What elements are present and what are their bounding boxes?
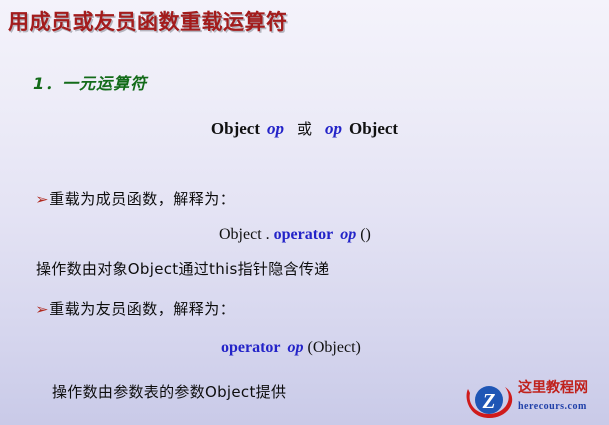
signature-friend-function: operatorop (Object): [221, 339, 361, 357]
explanation-friend-function: 操作数由参数表的参数Object提供: [52, 381, 286, 402]
watermark-logo: Z 这里教程网 herecours.com: [462, 378, 607, 424]
formula-right-object: Object: [349, 119, 398, 138]
formula-left-object: Object: [211, 119, 260, 138]
bullet-friend-function: ➢重载为友员函数，解释为：: [36, 298, 235, 319]
signature-friend-keyword: operator: [221, 339, 281, 356]
watermark-letter: Z: [482, 389, 496, 413]
slide-canvas: 用成员或友员函数重载运算符 1．一元运算符 Objectop或opObject …: [0, 0, 609, 425]
formula-left-op: op: [267, 119, 284, 138]
signature-member-op: op: [340, 226, 356, 243]
watermark-text-block: 这里教程网 herecours.com: [518, 380, 606, 422]
formula-conjunction: 或: [297, 120, 312, 138]
watermark-site-url: herecours.com: [518, 400, 606, 413]
signature-member-prefix: Object .: [219, 226, 274, 243]
arrow-bullet-icon: ➢: [35, 192, 49, 208]
signature-member-function: Object . operatorop (): [219, 226, 371, 244]
signature-friend-op: op: [288, 339, 304, 356]
bullet-member-function-label: 重载为成员函数，解释为：: [49, 190, 235, 208]
section-heading: 1．一元运算符: [33, 70, 147, 94]
arrow-bullet-icon: ➢: [35, 302, 49, 318]
formula-expression: Objectop或opObject: [0, 118, 609, 139]
watermark-site-name: 这里教程网: [518, 380, 606, 397]
signature-member-suffix: (): [356, 226, 371, 243]
signature-friend-suffix: (Object): [304, 339, 361, 356]
page-title: 用成员或友员函数重载运算符: [8, 6, 288, 36]
bullet-friend-function-label: 重载为友员函数，解释为：: [49, 300, 235, 318]
explanation-member-function: 操作数由对象Object通过this指针隐含传递: [36, 258, 329, 279]
watermark-mark-icon: Z: [462, 380, 518, 422]
bullet-member-function: ➢重载为成员函数，解释为：: [36, 188, 235, 209]
signature-member-keyword: operator: [274, 226, 334, 243]
formula-right-op: op: [325, 119, 342, 138]
